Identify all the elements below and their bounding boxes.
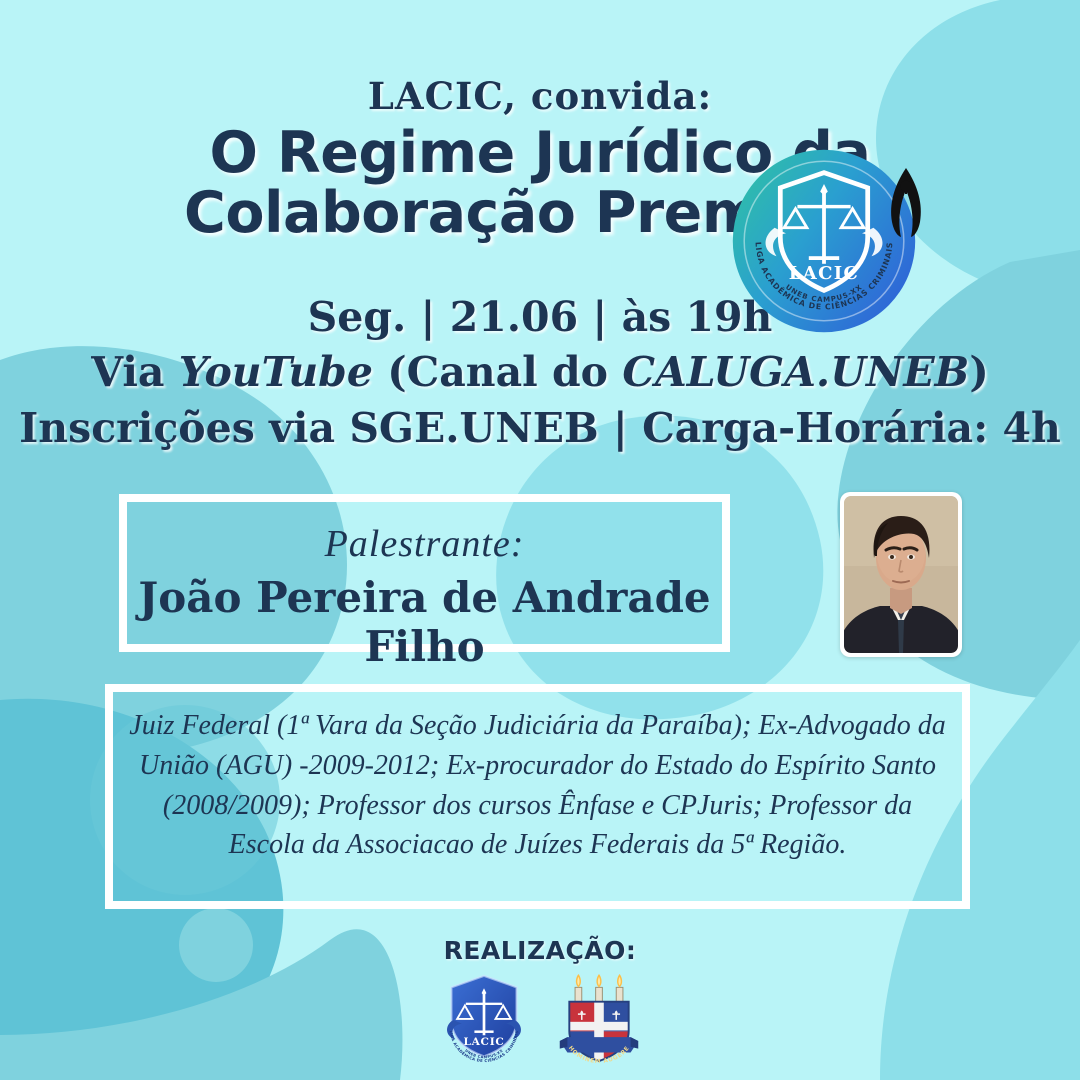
event-registration: Inscrições via SGE.UNEB | Carga-Horária:…: [0, 404, 1080, 452]
channel-suffix: ): [969, 348, 988, 396]
event-poster: LACIC, convida: O Regime Jurídico da Col…: [0, 0, 1080, 1080]
realization-label: REALIZAÇÃO:: [0, 936, 1080, 965]
speaker-name: João Pereira de Andrade Filho: [119, 573, 730, 671]
channel-mid: (Canal do: [373, 348, 622, 396]
channel-name: CALUGA.UNEB: [622, 348, 969, 396]
event-channel: Via YouTube (Canal do CALUGA.UNEB): [0, 348, 1080, 396]
speaker-photo-frame: [840, 492, 962, 657]
channel-prefix: Via: [91, 348, 179, 396]
speaker-bio: Juiz Federal (1ª Vara da Seção Judiciári…: [125, 706, 950, 865]
black-ribbon-icon: [880, 160, 932, 238]
torch-icons: [575, 974, 623, 1004]
footer-lacic-acronym: LACIC: [463, 1036, 504, 1048]
speaker-role-label: Palestrante:: [119, 522, 730, 566]
footer-logos: LACIC LIGA ACADÊMICA DE CIÊNCIAS CRIMINA…: [0, 972, 1080, 1064]
channel-platform: YouTube: [179, 348, 373, 396]
badge-acronym: LACIC: [789, 263, 859, 284]
lacic-logo: LACIC LIGA ACADÊMICA DE CIÊNCIAS CRIMINA…: [436, 972, 532, 1064]
speaker-portrait: [844, 496, 958, 653]
invite-line: LACIC, convida:: [0, 74, 1080, 118]
uneb-logo: HOMINEM AUGERE: [554, 972, 644, 1064]
